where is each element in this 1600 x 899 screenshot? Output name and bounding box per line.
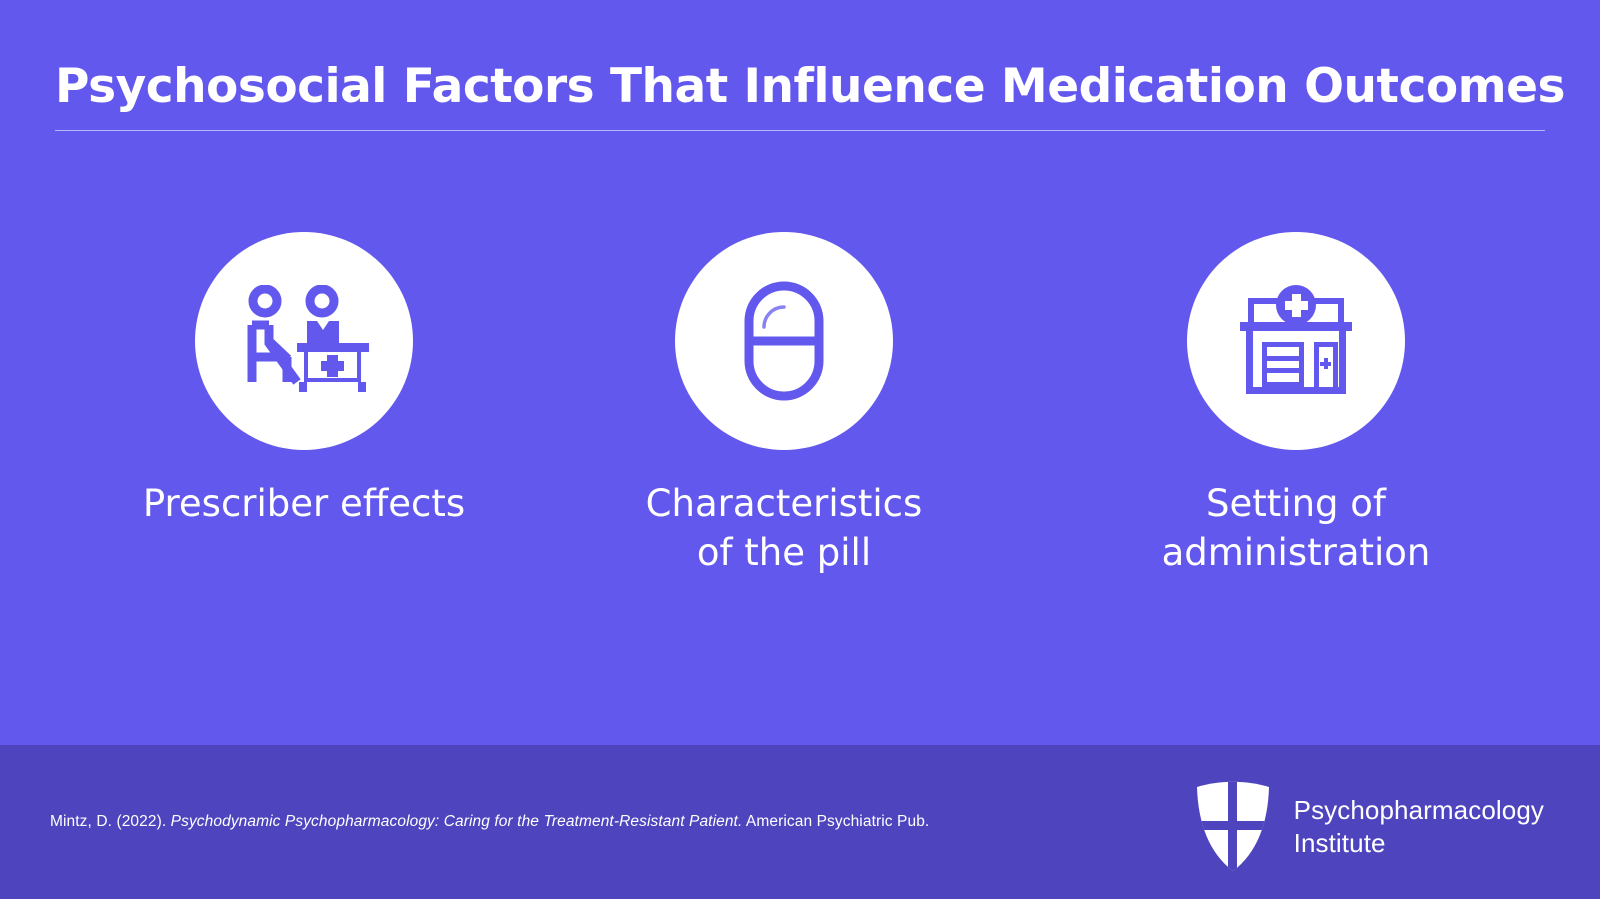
factor-card-prescriber-effects: Prescriber effects	[64, 232, 544, 529]
factor-card-label: Setting of administration	[1162, 480, 1431, 578]
brand-name-line2: Institute	[1294, 827, 1544, 860]
slide: Psychosocial Factors That Influence Medi…	[0, 0, 1600, 899]
citation-text: Mintz, D. (2022). Psychodynamic Psychoph…	[50, 813, 929, 831]
citation-author-year: Mintz, D. (2022).	[50, 813, 171, 830]
citation-publisher: American Psychiatric Pub.	[742, 813, 929, 830]
brand-name-line1: Psychopharmacology	[1294, 794, 1544, 827]
reception-desk-consultation-icon	[239, 285, 369, 397]
capsule-pill-icon	[742, 279, 826, 403]
icon-circle	[195, 232, 413, 450]
factor-card-label: Prescriber effects	[143, 480, 465, 529]
pharmacy-building-icon	[1234, 282, 1358, 400]
slide-header: Psychosocial Factors That Influence Medi…	[55, 60, 1545, 131]
citation-work-title: Psychodynamic Psychopharmacology: Caring…	[171, 813, 743, 830]
icon-circle	[1187, 232, 1405, 450]
slide-footer: Mintz, D. (2022). Psychodynamic Psychoph…	[0, 745, 1600, 899]
brand-logo: Psychopharmacology Institute	[1194, 781, 1544, 873]
factor-card-setting-of-administration: Setting of administration	[1056, 232, 1536, 578]
title-divider	[55, 130, 1545, 131]
shield-logo-icon	[1194, 781, 1272, 873]
factor-card-characteristics-of-the-pill: Characteristics of the pill	[544, 232, 1024, 578]
icon-circle	[675, 232, 893, 450]
page-title: Psychosocial Factors That Influence Medi…	[55, 60, 1545, 114]
brand-name: Psychopharmacology Institute	[1294, 794, 1544, 861]
factor-card-row: Prescriber effects Characteristics of th…	[0, 232, 1600, 578]
factor-card-label: Characteristics of the pill	[646, 480, 923, 578]
